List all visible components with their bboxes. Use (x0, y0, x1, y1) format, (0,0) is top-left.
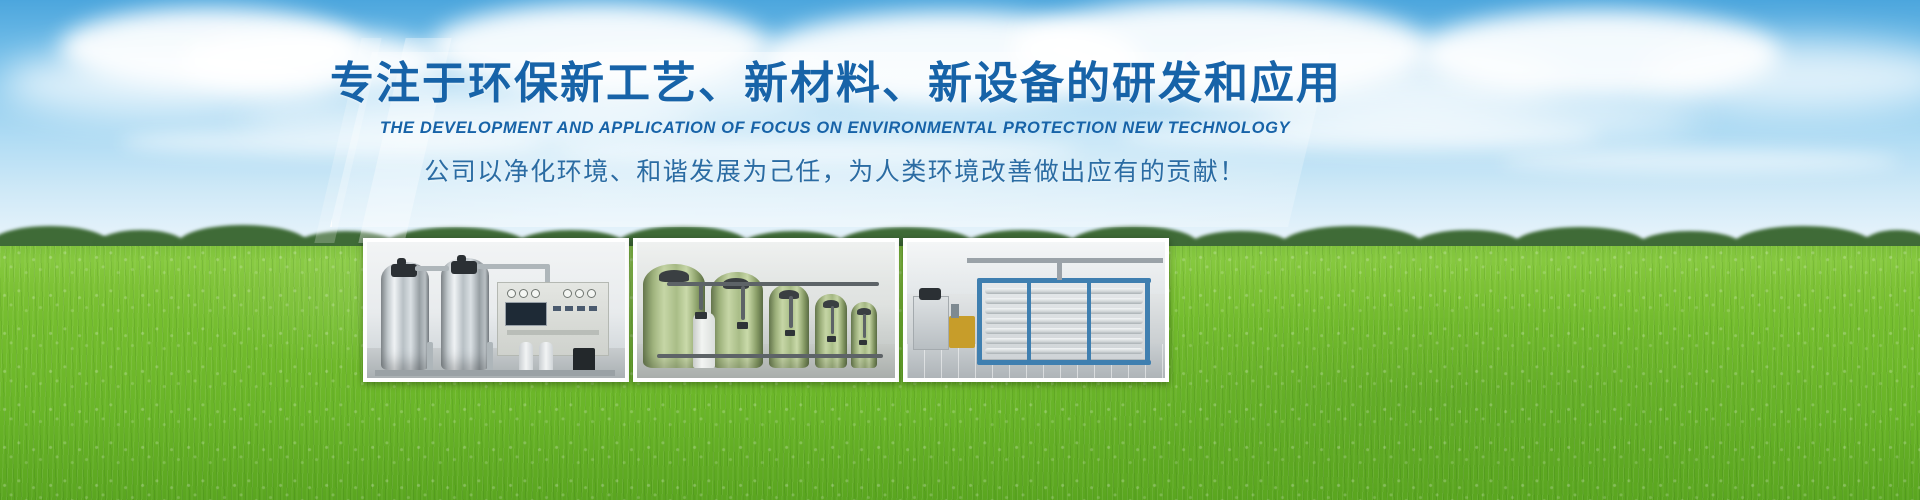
banner-subtitle-chinese: 公司以净化环境、和谐发展为己任，为人类环境改善做出应有的贡献！ (330, 152, 1340, 188)
photo-stainless-steel-tanks[interactable] (363, 238, 629, 382)
banner-text-block: 专注于环保新工艺、新材料、新设备的研发和应用 THE DEVELOPMENT A… (330, 56, 1340, 188)
promotional-banner: 专注于环保新工艺、新材料、新设备的研发和应用 THE DEVELOPMENT A… (0, 0, 1920, 500)
banner-subtitle-english: THE DEVELOPMENT AND APPLICATION OF FOCUS… (330, 119, 1340, 138)
banner-headline: 专注于环保新工艺、新材料、新设备的研发和应用 (330, 56, 1340, 112)
photo-reverse-osmosis-system[interactable] (903, 238, 1169, 382)
photo-green-frp-tanks[interactable] (633, 238, 899, 382)
product-photo-strip (363, 238, 1169, 382)
